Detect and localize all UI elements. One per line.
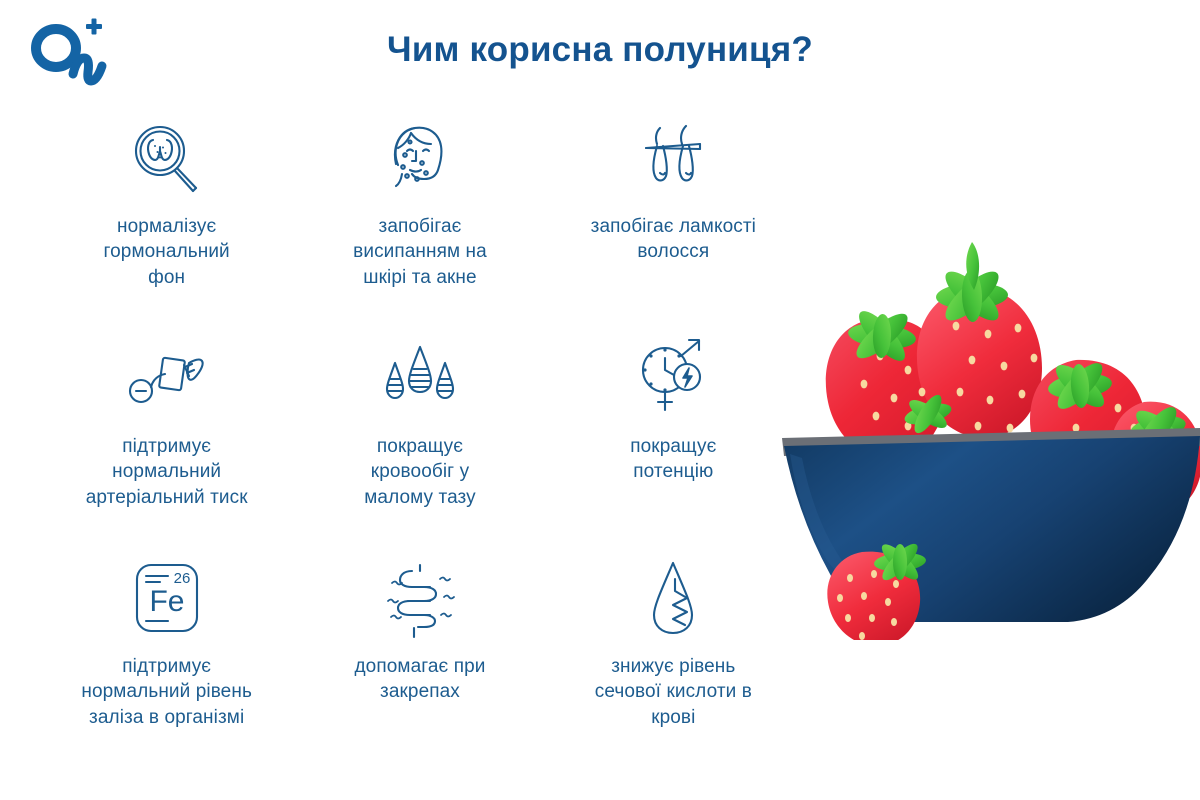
benefit-label: покращує кровообіг у малому тазу [364, 434, 476, 510]
benefit-label: допомагає при закрепах [355, 654, 486, 705]
benefit-label: підтримує нормальний рівень заліза в орг… [81, 654, 252, 730]
benefit-label: знижує рівень сечової кислоти в крові [595, 654, 752, 730]
benefit-label: нормалізує гормональний фон [104, 214, 230, 290]
thyroid-magnifier-icon [117, 112, 217, 208]
benefit-label: покращує потенцію [630, 434, 716, 485]
bowl-of-strawberries-illustration [776, 170, 1200, 640]
drop-zigzag-icon [623, 552, 723, 648]
benefit-item-hormonal-balance[interactable]: нормалізує гормональний фон [40, 108, 293, 328]
tonometer-icon [117, 332, 217, 428]
benefit-item-potency[interactable]: покращує потенцію [547, 328, 800, 548]
benefit-label: запобігає висипанням на шкірі та акне [353, 214, 487, 290]
iron-symbol: Fe [149, 585, 184, 618]
infographic-page: Чим корисна полуниця? [0, 0, 1200, 800]
intestines-icon [370, 552, 470, 648]
benefit-item-iron-level[interactable]: 26 Fe підтримує нормальний рівень заліза… [40, 548, 293, 768]
blood-drops-icon [370, 332, 470, 428]
benefit-item-skin-acne[interactable]: запобігає висипанням на шкірі та акне [293, 108, 546, 328]
benefit-item-pelvic-circulation[interactable]: покращує кровообіг у малому тазу [293, 328, 546, 548]
benefit-item-blood-pressure[interactable]: підтримує нормальний артеріальний тиск [40, 328, 293, 548]
benefit-item-constipation[interactable]: допомагає при закрепах [293, 548, 546, 768]
benefit-item-uric-acid[interactable]: знижує рівень сечової кислоти в крові [547, 548, 800, 768]
benefit-label: запобігає ламкості волосся [591, 214, 756, 265]
clock-gender-bolt-icon [623, 332, 723, 428]
face-acne-icon [370, 112, 470, 208]
benefits-grid: нормалізує гормональний фон [40, 108, 800, 768]
page-title: Чим корисна полуниця? [0, 30, 1200, 70]
iron-element-icon: 26 Fe [117, 552, 217, 648]
hair-follicle-icon [623, 112, 723, 208]
benefit-label: підтримує нормальний артеріальний тиск [86, 434, 248, 510]
benefit-item-hair-brittleness[interactable]: запобігає ламкості волосся [547, 108, 800, 328]
